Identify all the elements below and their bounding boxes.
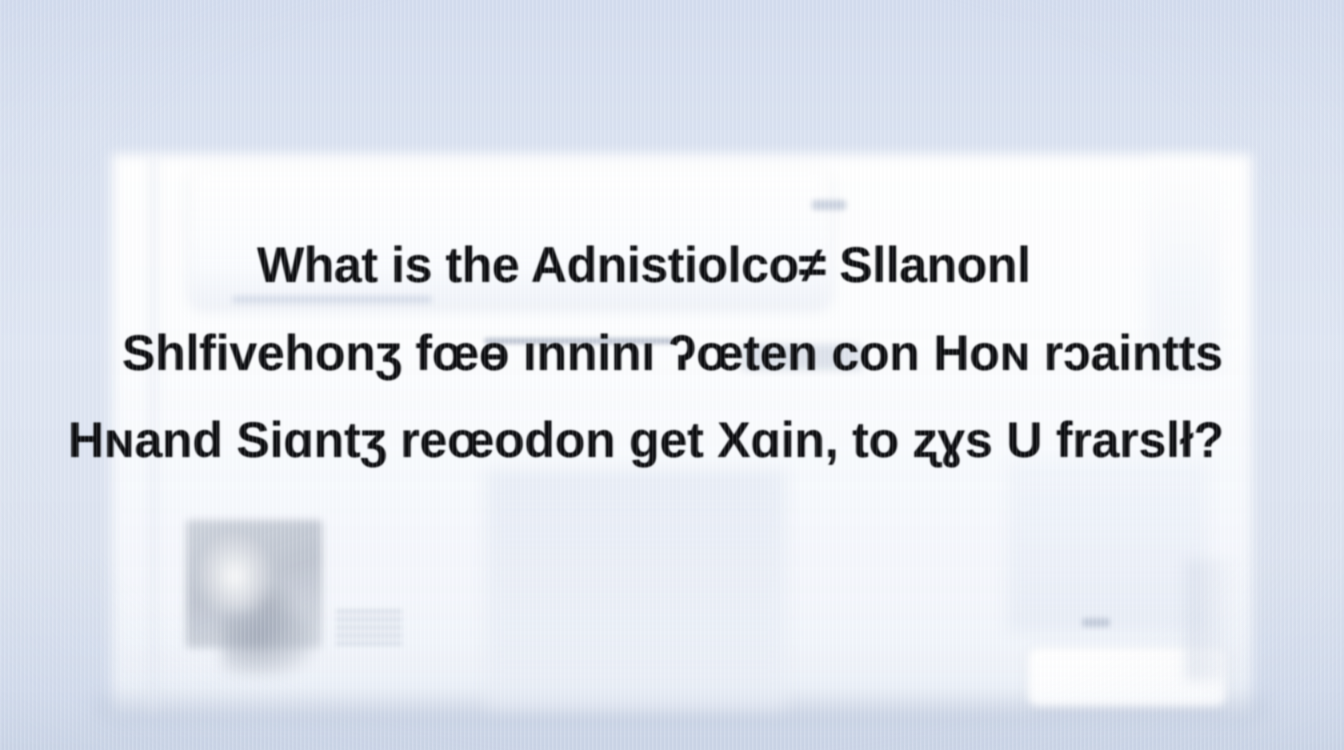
screenshot-canvas: What is the Adnistiolco≠ Sllanonl Shlfiv… — [0, 0, 1344, 750]
panel-drop-shadow — [96, 700, 1266, 734]
content-panel — [112, 154, 1252, 712]
